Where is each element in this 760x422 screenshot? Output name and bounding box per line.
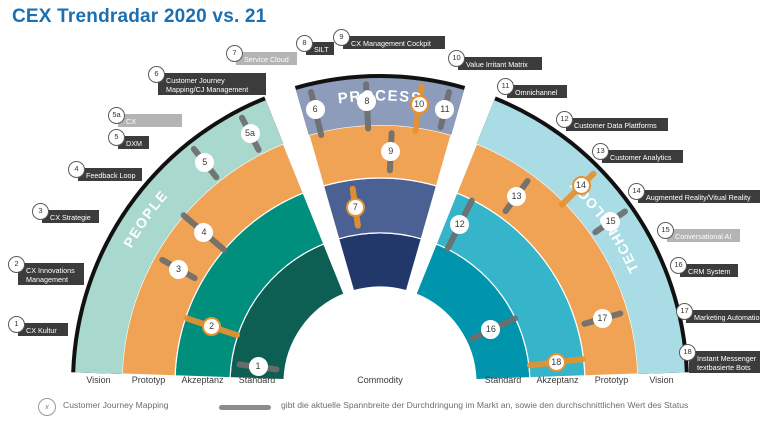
radar-marker-7[interactable]: 7: [346, 198, 365, 217]
axis-label-left-3: Standard: [217, 375, 297, 385]
callout-label-3: CX Strategie: [42, 210, 99, 223]
callout-3[interactable]: CX Strategie3: [32, 203, 101, 225]
callout-label-14: Augmented Reality/Vitual Reality: [638, 190, 760, 203]
legend: x Customer Journey Mapping gibt die aktu…: [0, 394, 760, 422]
callout-9[interactable]: CX Management Cockpit9: [333, 29, 447, 51]
callout-label-2: CX Innovations Management: [18, 263, 84, 285]
callout-label-13: Customer Analytics: [602, 150, 683, 163]
axis-label-right-3: Vision: [622, 375, 702, 385]
callout-number-4[interactable]: 4: [68, 161, 85, 178]
radar-marker-1[interactable]: 1: [249, 357, 268, 376]
callout-number-6[interactable]: 6: [148, 66, 165, 83]
callout-label-1: CX Kultur: [18, 323, 68, 336]
callout-6[interactable]: Customer Journey Mapping/CJ Management6: [148, 66, 268, 96]
radar-marker-15[interactable]: 15: [601, 212, 620, 231]
callout-label-5a: CX Governance: [118, 114, 182, 127]
callout-label-12: Customer Data Plattforms: [566, 118, 668, 131]
callout-label-18: Instant Messenger textbasierte Bots: [689, 351, 760, 373]
legend-bar-icon: [219, 405, 271, 410]
callout-number-5[interactable]: 5: [108, 129, 125, 146]
callout-number-2[interactable]: 2: [8, 256, 25, 273]
callout-label-6: Customer Journey Mapping/CJ Management: [158, 73, 266, 95]
callout-number-9[interactable]: 9: [333, 29, 350, 46]
radar-marker-5a[interactable]: 5a: [241, 124, 260, 143]
callout-16[interactable]: CRM System16: [670, 257, 740, 279]
callout-number-13[interactable]: 13: [592, 143, 609, 160]
ring-process-2: [309, 125, 451, 186]
callout-number-18[interactable]: 18: [679, 344, 696, 361]
axis-label-center: Commodity: [340, 375, 420, 385]
ring-process-1: [323, 178, 436, 239]
callout-8[interactable]: SILT8: [296, 35, 336, 57]
radar-marker-13[interactable]: 13: [507, 187, 526, 206]
callout-17[interactable]: Marketing Automation17: [676, 303, 760, 325]
legend-marker-icon: x: [38, 398, 56, 416]
callout-number-5a[interactable]: 5a: [108, 107, 125, 124]
callout-10[interactable]: Value Irritant Matrix10: [448, 50, 544, 72]
callout-label-4: Feedback Loop: [78, 168, 142, 181]
callout-number-10[interactable]: 10: [448, 50, 465, 67]
callout-label-15: Conversational AI: [667, 229, 740, 242]
callout-12[interactable]: Customer Data Plattforms12: [556, 111, 670, 133]
callout-13[interactable]: Customer Analytics13: [592, 143, 685, 165]
callout-number-12[interactable]: 12: [556, 111, 573, 128]
radar-marker-3[interactable]: 3: [169, 260, 188, 279]
radar-marker-10[interactable]: 10: [410, 95, 429, 114]
callout-number-15[interactable]: 15: [657, 222, 674, 239]
callout-number-7[interactable]: 7: [226, 45, 243, 62]
callout-1[interactable]: CX Kultur1: [8, 316, 70, 338]
radar-marker-6[interactable]: 6: [306, 100, 325, 119]
radar-marker-18[interactable]: 18: [547, 353, 566, 372]
callout-14[interactable]: Augmented Reality/Vitual Reality14: [628, 183, 760, 205]
radar-marker-17[interactable]: 17: [593, 309, 612, 328]
callout-number-17[interactable]: 17: [676, 303, 693, 320]
callout-18[interactable]: Instant Messenger textbasierte Bots18: [679, 344, 760, 374]
callout-number-8[interactable]: 8: [296, 35, 313, 52]
callout-15[interactable]: Conversational AI15: [657, 222, 742, 244]
callout-7[interactable]: Service Cloud7: [226, 45, 299, 67]
callout-label-9: CX Management Cockpit: [343, 36, 445, 49]
callout-label-10: Value Irritant Matrix: [458, 57, 542, 70]
trendradar-infographic: CEX Trendradar 2020 vs. 21 PEOPLEPROCESS…: [0, 0, 760, 422]
radar-marker-14[interactable]: 14: [572, 176, 591, 195]
callout-number-11[interactable]: 11: [497, 78, 514, 95]
callout-4[interactable]: Feedback Loop4: [68, 161, 144, 183]
callout-number-16[interactable]: 16: [670, 257, 687, 274]
callout-number-3[interactable]: 3: [32, 203, 49, 220]
callout-label-17: Marketing Automation: [686, 310, 760, 323]
legend-item-spannbreite: gibt die aktuelle Spannbreite der Durchd…: [281, 400, 688, 410]
callout-number-1[interactable]: 1: [8, 316, 25, 333]
callout-label-11: Omnichannel: [507, 85, 567, 98]
radar-chart: PEOPLEPROCESSTECHNOLOGY: [0, 0, 760, 422]
callout-11[interactable]: Omnichannel11: [497, 78, 569, 100]
callout-5a[interactable]: CX Governance5a: [108, 107, 184, 129]
radar-marker-11[interactable]: 11: [435, 100, 454, 119]
callout-2[interactable]: CX Innovations Management2: [8, 256, 86, 286]
callout-label-16: CRM System: [680, 264, 738, 277]
callout-number-14[interactable]: 14: [628, 183, 645, 200]
callout-label-7: Service Cloud: [236, 52, 297, 65]
legend-item-cjm: Customer Journey Mapping: [63, 400, 169, 410]
ring-process-0: [339, 233, 422, 291]
